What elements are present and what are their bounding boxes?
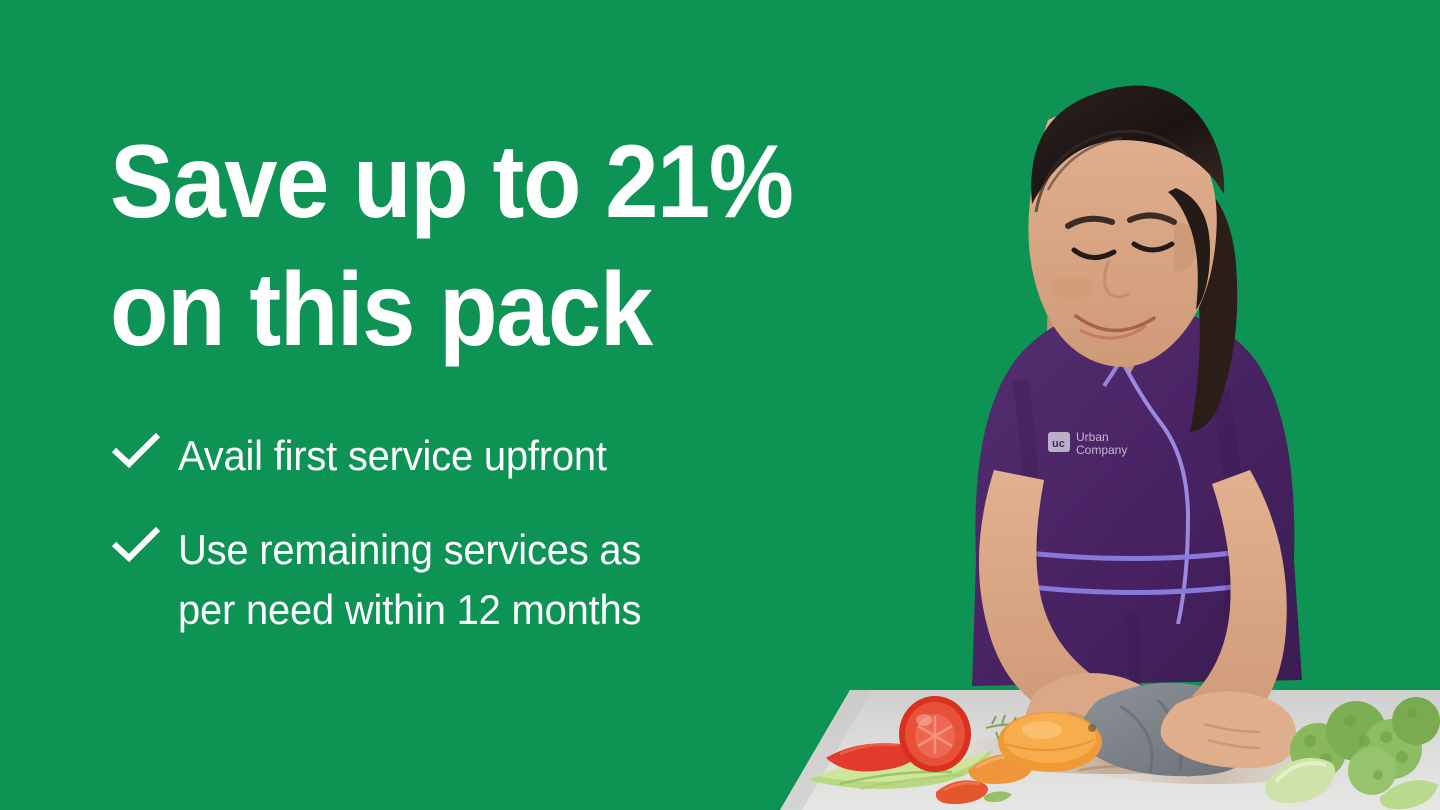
promo-copy: Save up to 21% on this pack Avail first … <box>110 118 870 674</box>
svg-text:Urban: Urban <box>1076 430 1109 444</box>
benefit-line: per need within 12 months <box>178 580 641 640</box>
benefit-line: Use remaining services as <box>178 520 641 580</box>
check-icon <box>110 524 178 570</box>
svg-text:uc: uc <box>1052 438 1065 450</box>
promo-photo: uc Urban Company <box>780 0 1440 810</box>
carrot-slice <box>930 766 1020 806</box>
broccoli-florets <box>1260 675 1440 810</box>
check-icon <box>110 430 178 476</box>
benefit-text: Use remaining services as per need withi… <box>178 520 666 640</box>
list-item: Use remaining services as per need withi… <box>110 520 870 640</box>
headline-line-1: Save up to 21% <box>110 118 809 246</box>
benefit-text: Avail first service upfront <box>178 426 629 486</box>
svg-text:Company: Company <box>1076 443 1127 457</box>
promo-banner: uc Urban Company <box>0 0 1440 810</box>
list-item: Avail first service upfront <box>110 426 870 486</box>
benefit-list: Avail first service upfront Use remainin… <box>110 426 870 640</box>
benefit-line: Avail first service upfront <box>178 426 607 486</box>
headline-line-2: on this pack <box>110 246 809 374</box>
